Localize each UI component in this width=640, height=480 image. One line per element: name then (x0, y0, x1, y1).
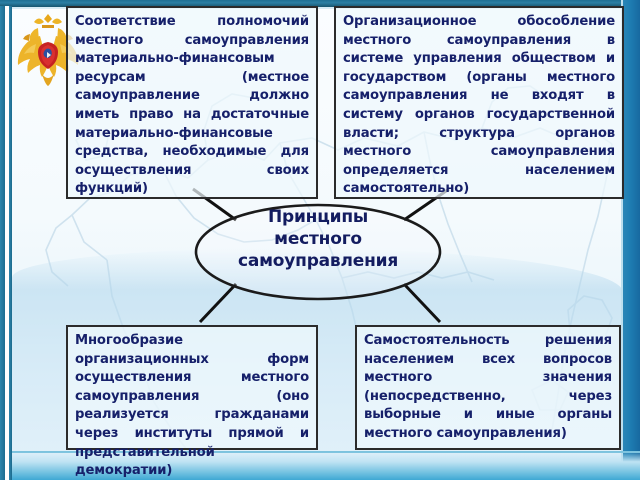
center-line-2: местного (198, 228, 438, 250)
principle-box-top-right: Организационное обособление местного сам… (334, 6, 624, 199)
principle-text-top-left: Соответствие полномочий местного самоупр… (75, 13, 309, 199)
principle-text-bottom-right: Самостоятельность решения населением все… (364, 332, 612, 444)
center-line-3: самоуправления (198, 250, 438, 272)
frame-right-band (623, 0, 640, 480)
slide-canvas: Принципы местного самоуправления Соответ… (0, 0, 640, 480)
principle-box-top-left: Соответствие полномочий местного самоупр… (66, 6, 318, 199)
principle-box-bottom-right: Самостоятельность решения населением все… (355, 325, 621, 450)
principle-text-bottom-left: Многообразие организационных форм осущес… (75, 332, 309, 480)
center-line-1: Принципы (198, 206, 438, 228)
center-node-label: Принципы местного самоуправления (198, 206, 438, 272)
principle-text-top-right: Организационное обособление местного сам… (343, 13, 615, 199)
principle-box-bottom-left: Многообразие организационных форм осущес… (66, 325, 318, 450)
